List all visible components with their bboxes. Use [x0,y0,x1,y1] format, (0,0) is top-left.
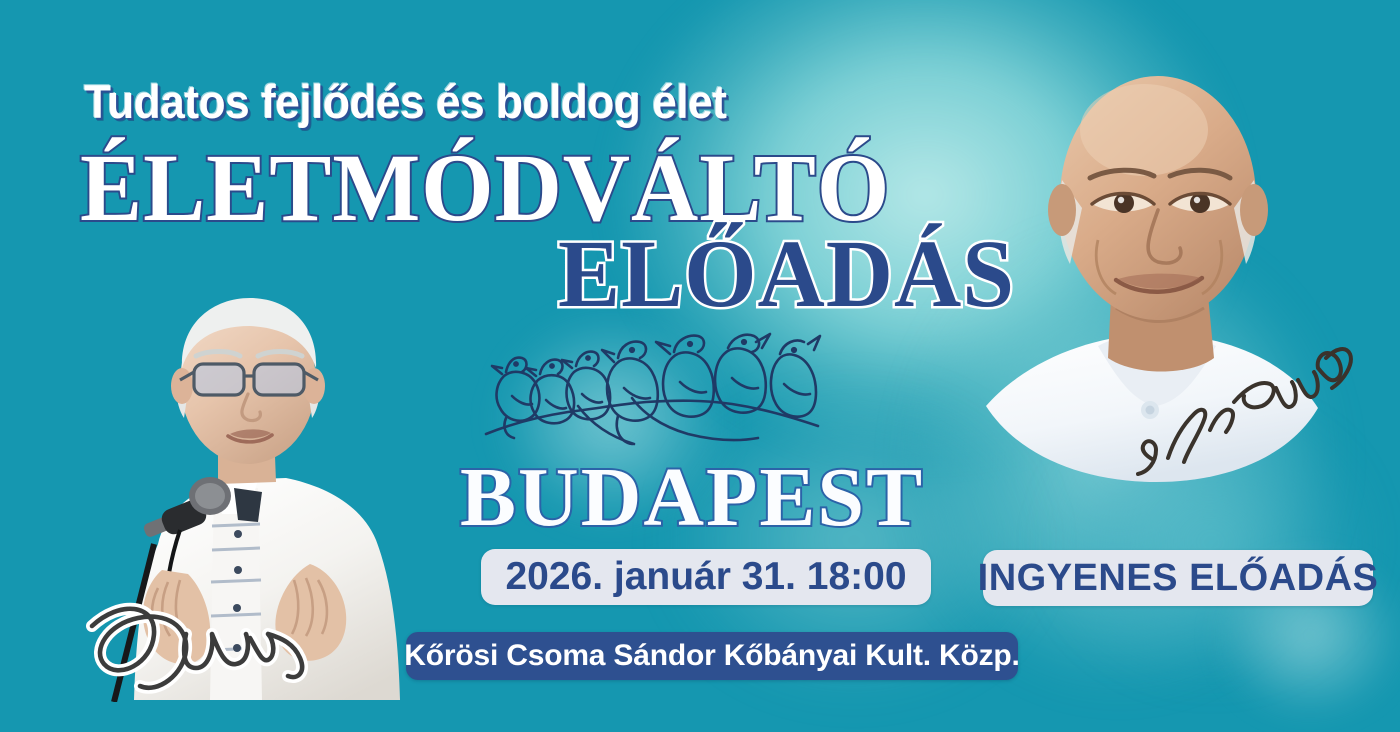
birds-on-branch-icon [482,330,822,452]
free-entry-badge: INGYENES ELŐADÁS [983,550,1373,606]
event-date-badge: 2026. január 31. 18:00 [481,549,931,605]
teacher-portrait-right [958,58,1362,520]
venue-badge: Kőrösi Csoma Sándor Kőbányai Kult. Közp. [406,632,1018,680]
speaker-portrait-left [62,282,446,702]
tagline: Tudatos fejlődés és boldog élet [84,74,726,129]
headline-line2: ELŐADÁS [558,226,1015,322]
event-promo-banner: Tudatos fejlődés és boldog élet ÉLETMÓDV… [0,0,1400,732]
city-name: BUDAPEST [460,456,924,540]
